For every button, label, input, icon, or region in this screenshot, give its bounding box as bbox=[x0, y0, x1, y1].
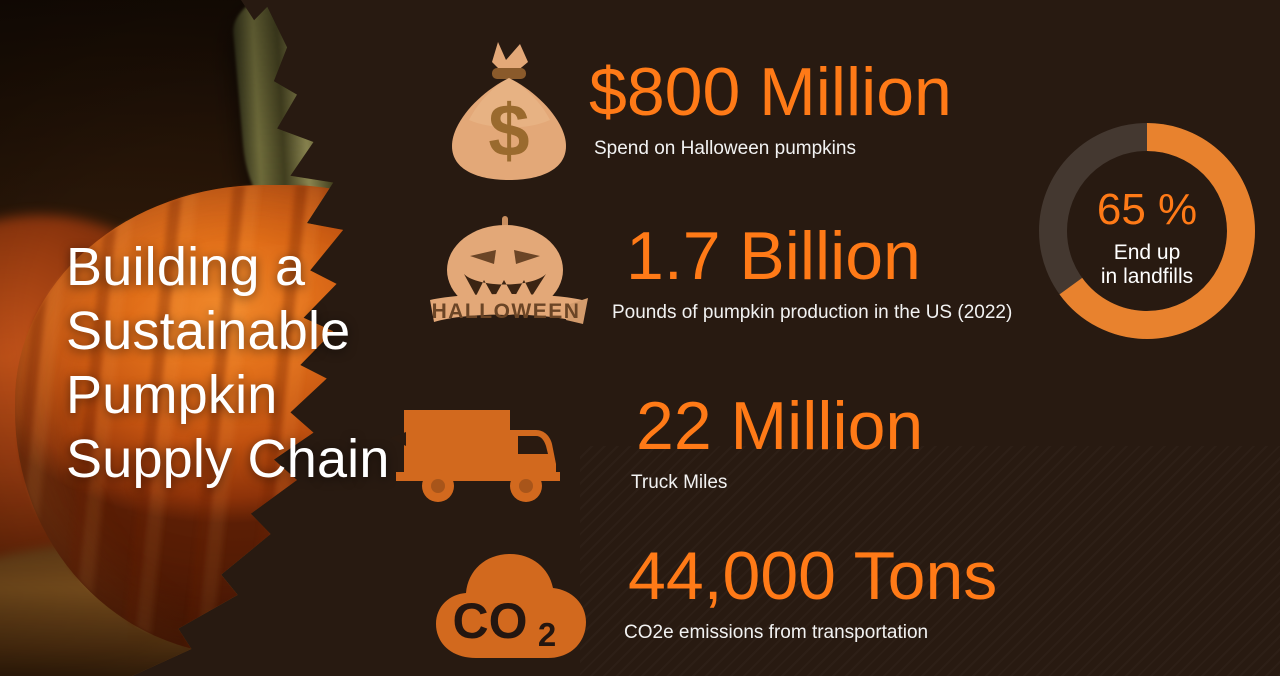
donut-caption-line-1: End up bbox=[1114, 241, 1181, 264]
halloween-banner-text: HALLOWEEN bbox=[432, 300, 581, 323]
stat-value: 1.7 Billion bbox=[626, 222, 1012, 290]
stat-label: Pounds of pumpkin production in the US (… bbox=[612, 303, 1012, 322]
landfill-donut-chart: 65 % End up in landfills bbox=[1031, 115, 1263, 347]
co2-label: CO bbox=[453, 593, 528, 649]
stat-value: 44,000 Tons bbox=[628, 542, 997, 610]
halloween-pumpkin-icon: HALLOWEEN bbox=[420, 212, 592, 340]
stat-label: Truck Miles bbox=[631, 473, 923, 492]
donut-caption-line-2: in landfills bbox=[1101, 265, 1193, 288]
stat-spend: $800 Million Spend on Halloween pumpkins bbox=[589, 58, 952, 158]
stat-production: 1.7 Billion Pounds of pumpkin production… bbox=[612, 222, 1012, 322]
money-bag-dollar-sign: $ bbox=[488, 89, 529, 172]
co2-subscript: 2 bbox=[538, 616, 556, 653]
infographic-canvas: Building a Sustainable Pumpkin Supply Ch… bbox=[0, 0, 1280, 676]
donut-percentage: 65 % bbox=[1097, 188, 1197, 232]
stat-emissions: 44,000 Tons CO2e emissions from transpor… bbox=[624, 542, 997, 642]
co2-cloud-icon: CO 2 bbox=[432, 546, 590, 664]
stat-label: Spend on Halloween pumpkins bbox=[594, 139, 952, 158]
donut-caption: End up in landfills bbox=[1101, 241, 1193, 289]
donut-center-labels: 65 % End up in landfills bbox=[1031, 115, 1263, 347]
money-bag-icon: $ bbox=[436, 34, 584, 186]
delivery-truck-icon bbox=[390, 402, 570, 510]
stat-truck-miles: 22 Million Truck Miles bbox=[631, 392, 923, 492]
stat-label: CO2e emissions from transportation bbox=[624, 623, 997, 642]
stat-value: 22 Million bbox=[636, 392, 923, 460]
stat-value: $800 Million bbox=[589, 58, 952, 126]
